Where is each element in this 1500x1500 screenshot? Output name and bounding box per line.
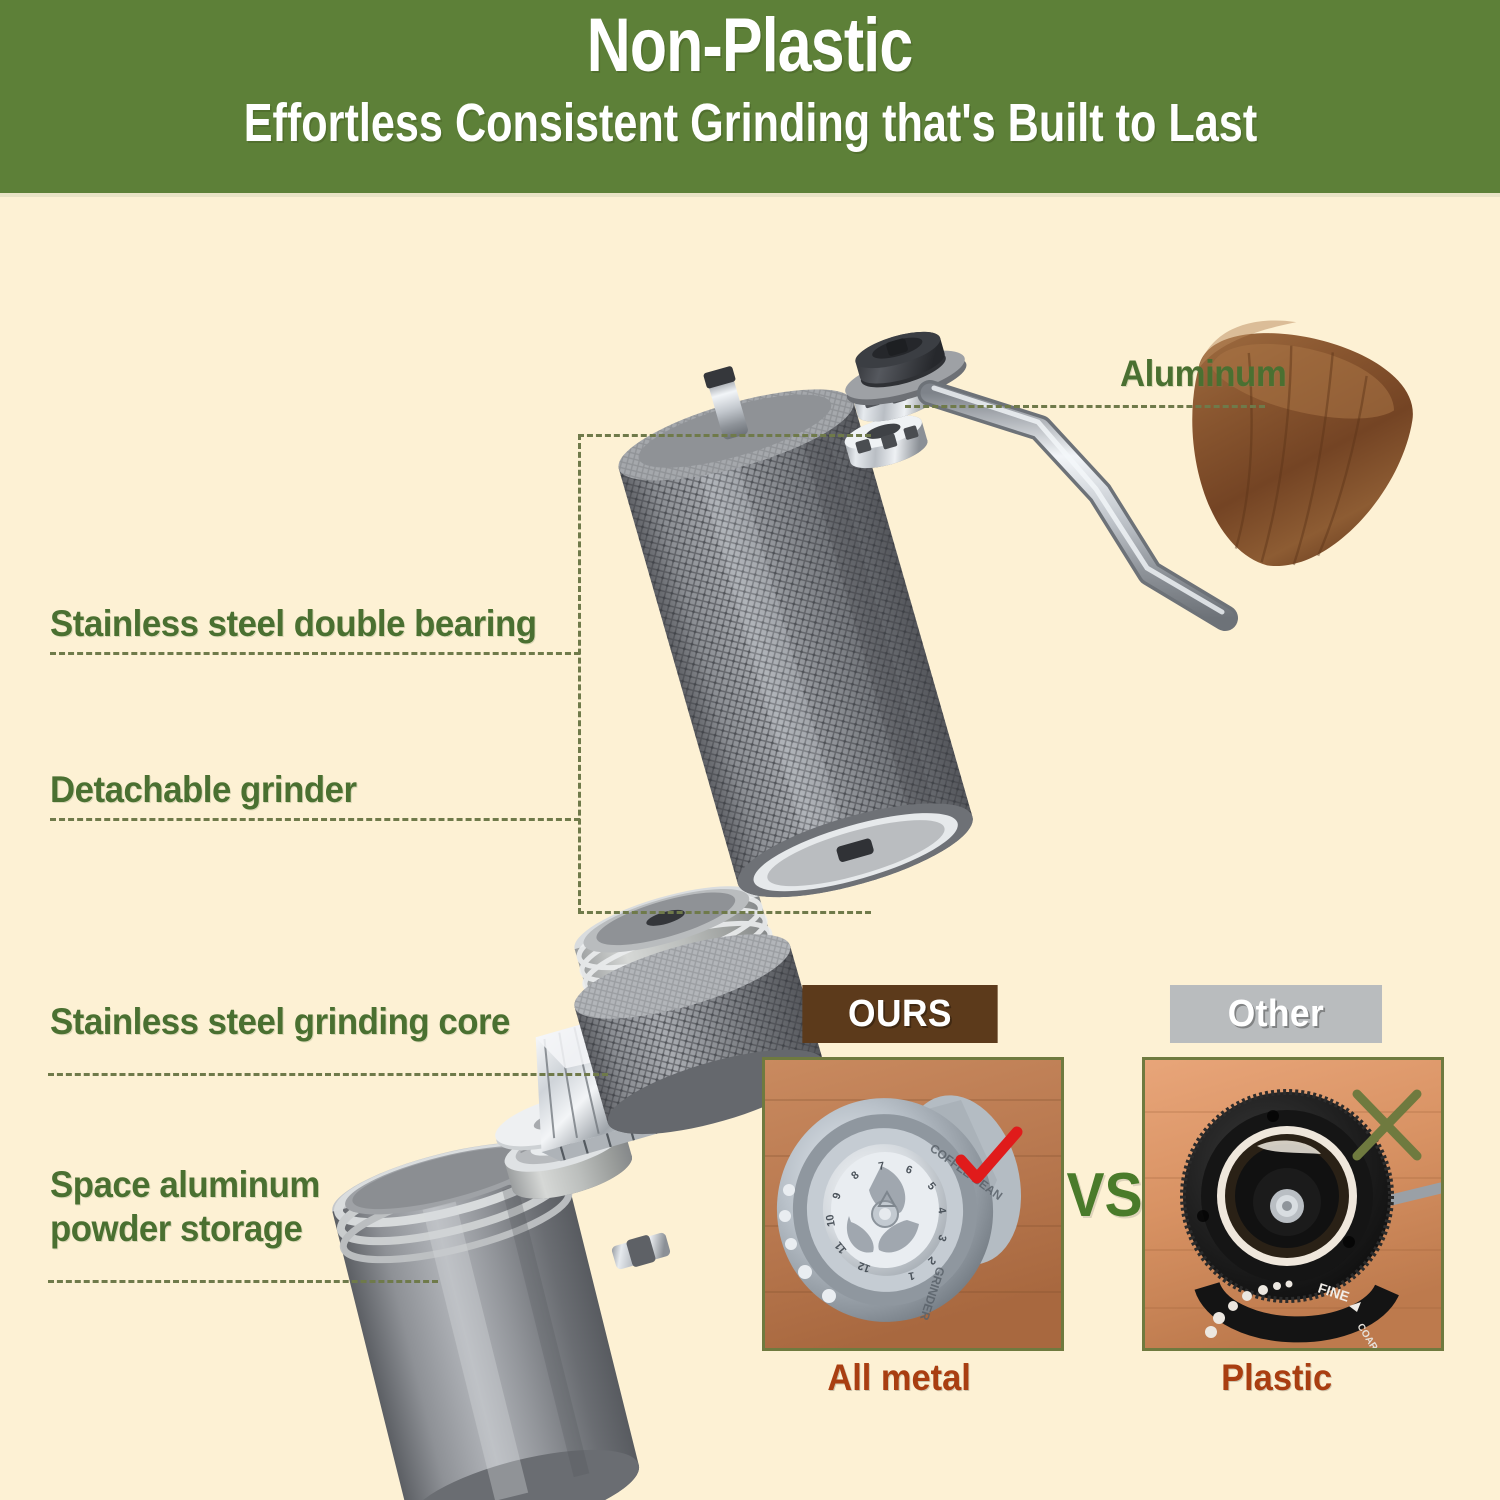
ours-caption: All metal xyxy=(827,1357,970,1399)
ours-photo-art: 1 2 3 4 5 6 7 8 9 10 11 12 xyxy=(765,1060,1061,1348)
other-caption: Plastic xyxy=(1221,1357,1332,1399)
leader-storage xyxy=(48,1280,438,1283)
comparison-section: OURS Other xyxy=(762,985,1422,1410)
other-photo-art: FINE COARSE xyxy=(1145,1060,1441,1348)
ours-banner-label: OURS xyxy=(848,993,952,1036)
callout-bracket-body xyxy=(578,434,871,914)
dial-number: 10 xyxy=(824,1213,838,1227)
callout-aluminum-label: Aluminum xyxy=(1120,352,1430,396)
callout-double-bearing: Stainless steel double bearing xyxy=(50,602,580,655)
leader-grinding-core xyxy=(48,1073,608,1076)
callout-grinding-core: Stainless steel grinding core xyxy=(50,1000,570,1044)
header-banner: Non-Plastic Effortless Consistent Grindi… xyxy=(0,0,1500,193)
ours-photo: 1 2 3 4 5 6 7 8 9 10 11 12 xyxy=(762,1057,1064,1351)
part-wooden-knob xyxy=(1161,304,1427,588)
callout-powder-storage: Space aluminum powder storage xyxy=(50,1163,470,1250)
ours-banner: OURS xyxy=(802,985,997,1043)
other-banner-label: Other xyxy=(1228,993,1325,1036)
other-photo: FINE COARSE xyxy=(1142,1057,1444,1351)
callout-detachable-grinder: Detachable grinder xyxy=(50,768,580,821)
callout-grinding-core-label: Stainless steel grinding core xyxy=(50,1000,539,1044)
vs-label: VS xyxy=(1065,1160,1143,1231)
page-title: Non-Plastic xyxy=(587,6,913,86)
callout-double-bearing-rule xyxy=(50,652,580,655)
callout-detachable-grinder-label: Detachable grinder xyxy=(50,768,548,812)
callout-detachable-grinder-rule xyxy=(50,818,580,821)
part-crank-arm xyxy=(930,388,1225,618)
callout-aluminum: Aluminum xyxy=(1120,352,1450,396)
other-banner: Other xyxy=(1170,985,1382,1043)
part-small-clip xyxy=(610,1230,672,1272)
leader-aluminum xyxy=(905,405,1265,408)
callout-powder-storage-label-line1: Space aluminum xyxy=(50,1163,445,1207)
page-subtitle: Effortless Consistent Grinding that's Bu… xyxy=(243,92,1257,154)
callout-double-bearing-label: Stainless steel double bearing xyxy=(50,602,548,646)
infographic-page: Non-Plastic Effortless Consistent Grindi… xyxy=(0,0,1500,1500)
callout-powder-storage-label-line2: powder storage xyxy=(50,1207,445,1251)
